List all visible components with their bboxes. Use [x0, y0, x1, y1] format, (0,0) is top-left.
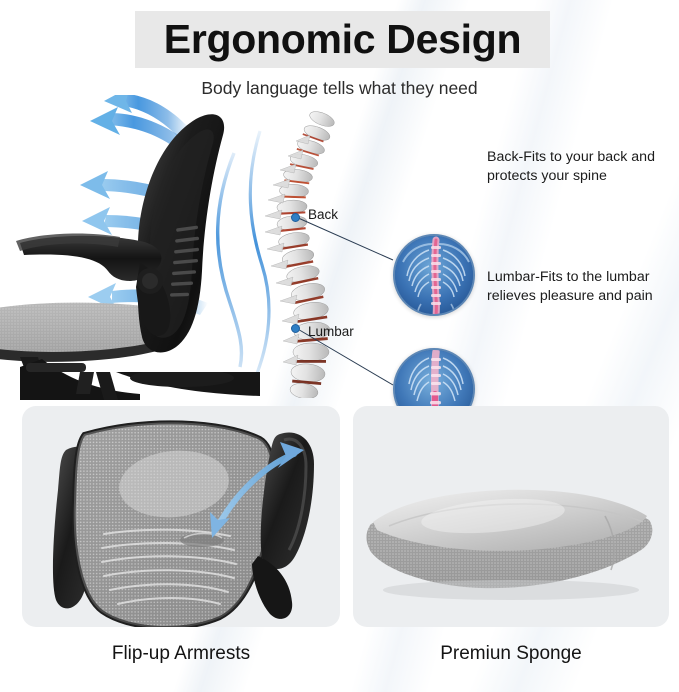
- back-annotation-line1: Back-Fits to your back and: [487, 148, 679, 167]
- premium-sponge-caption: Premiun Sponge: [353, 643, 669, 665]
- spine-illustration: [248, 103, 353, 398]
- infographic-page: Ergonomic Design Body language tells wha…: [0, 0, 679, 692]
- back-marker-dot[interactable]: [291, 213, 300, 222]
- office-chair-side-view: [0, 95, 260, 400]
- mesh-backrest: [74, 422, 274, 627]
- seat-cushion-photo: [353, 406, 669, 627]
- lumbar-annotation-line1: Lumbar-Fits to the lumbar: [487, 268, 679, 287]
- chair-base-overflow: [60, 372, 280, 408]
- lumbar-annotation: Lumbar-Fits to the lumbar relieves pleas…: [487, 268, 679, 306]
- spine-blue-curve: [250, 131, 269, 381]
- blue-accent-swoosh: [218, 153, 242, 367]
- lumbar-annotation-line2: relieves pleasure and pain: [487, 287, 679, 306]
- hero-section: Back Lumbar: [0, 95, 679, 400]
- lumbar-marker-dot[interactable]: [291, 324, 300, 333]
- back-annotation-line2: protects your spine: [487, 167, 679, 186]
- back-label: Back: [308, 207, 338, 222]
- back-annotation: Back-Fits to your back and protects your…: [487, 148, 679, 186]
- armrest-photo: [22, 406, 340, 627]
- lumbar-label: Lumbar: [308, 324, 354, 339]
- flip-up-armrests-panel: [22, 406, 340, 627]
- flip-up-armrests-caption: Flip-up Armrests: [22, 643, 340, 665]
- premium-sponge-panel: [353, 406, 669, 627]
- vertebrae-stack: [276, 109, 336, 398]
- page-title: Ergonomic Design: [135, 11, 550, 68]
- back-magnifier-circle[interactable]: [393, 234, 475, 316]
